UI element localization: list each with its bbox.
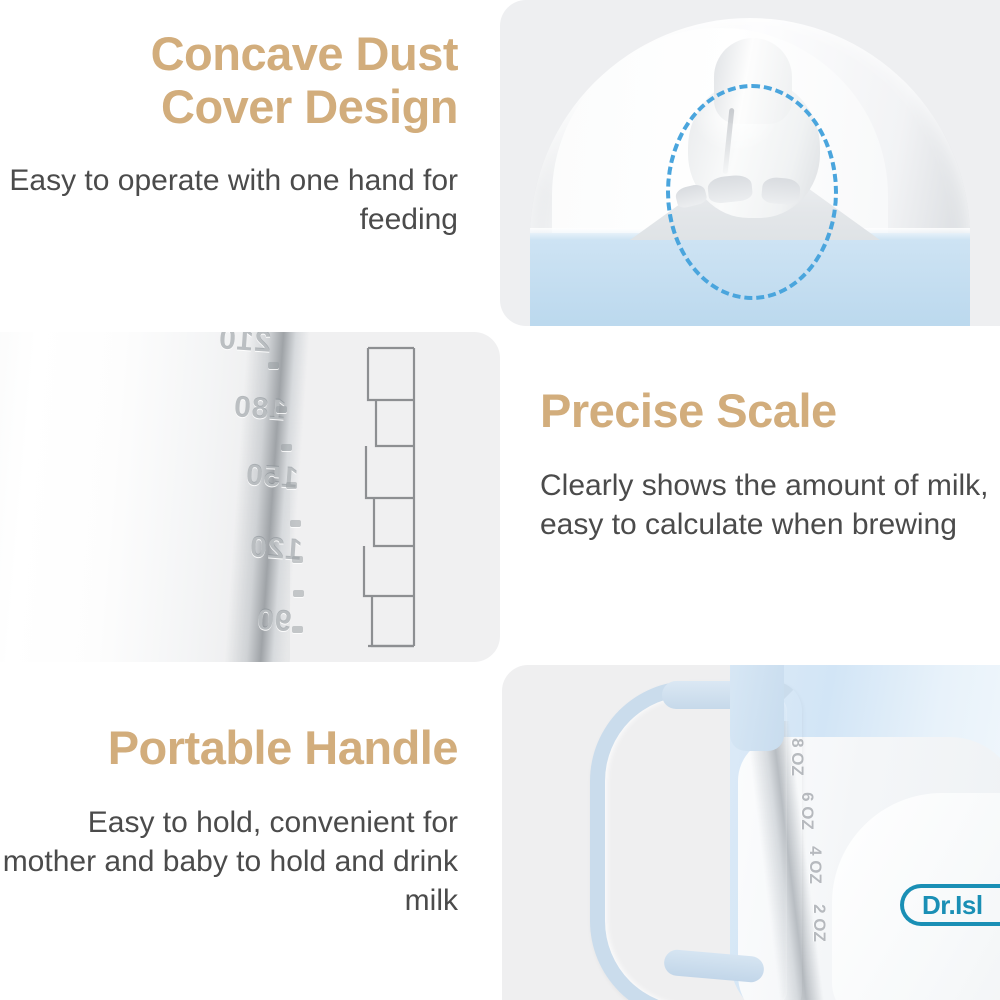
oz-mark-2: 2 OZ [809, 904, 829, 942]
scale-tick [293, 590, 304, 597]
oz-mark-4: 4 OZ [805, 846, 825, 884]
scale-tick [292, 556, 303, 563]
feature-dust-cover-subtext: Easy to operate with one hand for feedin… [0, 161, 458, 239]
feature-precise-scale-headline: Precise Scale [540, 385, 990, 438]
oz-mark-8: 8 OZ [787, 738, 807, 776]
portable-handle-mount [730, 665, 784, 751]
infographic-page: 210 180 150 120 90 [0, 0, 1000, 1000]
feature-precise-scale-subtext: Clearly shows the amount of milk, easy t… [540, 466, 990, 544]
photo-portable-handle: 8 OZ 6 OZ 4 OZ 2 OZ Dr.Isl [502, 665, 1000, 1000]
brand-logo: Dr.Isl [900, 884, 1000, 926]
feature-dust-cover: Concave DustCover Design Easy to operate… [0, 28, 480, 239]
scale-tick [290, 520, 301, 527]
photo-dust-cover [500, 0, 1000, 326]
scale-tick [268, 362, 279, 369]
scale-value-90: 90 [255, 603, 293, 639]
scale-tick [292, 626, 303, 633]
feature-precise-scale: Precise Scale Clearly shows the amount o… [540, 385, 990, 544]
scale-tick [281, 444, 292, 451]
scale-tick [276, 406, 287, 413]
feature-portable-handle-subtext: Easy to hold, convenient for mother and … [0, 803, 458, 920]
scale-value-210: 210 [217, 332, 272, 360]
scale-tick [286, 482, 297, 489]
feature-portable-handle-headline: Portable Handle [0, 722, 458, 775]
dashed-highlight-ellipse-icon [666, 84, 838, 300]
feature-portable-handle: Portable Handle Easy to hold, convenient… [0, 722, 480, 920]
ruler-diagram-icon [362, 338, 440, 656]
feature-dust-cover-headline: Concave DustCover Design [0, 28, 458, 133]
scale-value-150: 150 [244, 458, 299, 496]
oz-mark-6: 6 OZ [797, 792, 817, 830]
brand-logo-text: Dr.Isl [922, 890, 983, 921]
